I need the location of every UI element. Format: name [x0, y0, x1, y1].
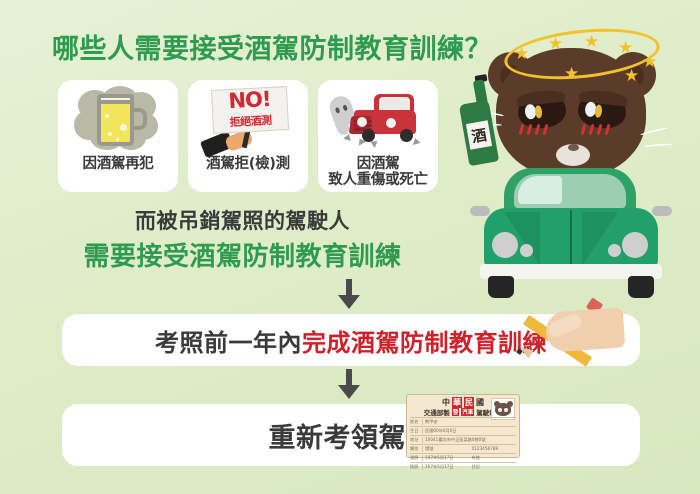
bear-nose [568, 144, 579, 151]
license-detail-rows: 姓名 熊甲安 生日 民國00年0月0日 地址 10041臺北市中正區某路0巷0號… [410, 417, 516, 470]
green-car-illustration [460, 168, 692, 300]
step-prefix-text: 考照前一年內 [155, 329, 302, 357]
reason-card-injury-death: 因酒駕 致人重傷或死亡 [318, 80, 438, 192]
dizzy-star-icon: ★ [618, 40, 633, 57]
license-subtitle-part-1: 交通部製 [424, 407, 450, 417]
reason-card-label: 酒駕拒(檢)測 [206, 156, 290, 172]
reason-card-refuse-test: NO! 拒絕酒測 酒駕拒(檢)測 [188, 80, 308, 192]
license-subtitle-part-3: 汽車 [461, 408, 474, 416]
step-bar-training-text: 考照前一年內完成酒駕防制教育訓練 [155, 323, 547, 358]
dizzy-star-icon: ★ [548, 36, 563, 53]
license-row-key: 生日 [410, 428, 423, 434]
reason-card-repeat-offense: 因酒駕再犯 [58, 80, 178, 192]
bottle-label-text: 酒 [466, 120, 492, 149]
license-row: 類別 證號 0123456789 [410, 444, 516, 452]
dizzy-star-icon: ★ [564, 66, 579, 83]
license-row: 姓名 熊甲安 [410, 417, 516, 425]
driver-license-card-icon: 中 華 民 國 交通部製 發 汽車 駕駛執照 姓名 熊甲安 生日 民國00年0月 [406, 394, 520, 458]
license-row: 生日 民國00年0月0日 [410, 426, 516, 434]
arrow-down-icon [338, 369, 360, 399]
license-row-key: 類別 [410, 446, 423, 452]
license-row: 地址 10041臺北市中正區某路0巷0號 [410, 435, 516, 443]
reason-card-label-line1: 因酒駕 [357, 156, 400, 172]
reason-card-label-line1: 酒駕拒(檢)測 [206, 156, 290, 172]
license-row-key: 換照 [410, 464, 423, 470]
license-row-key: 發照 [410, 455, 423, 461]
license-row: 發照 107年5月17日 有效 [410, 453, 516, 461]
reason-card-label-line1: 因酒駕再犯 [83, 156, 154, 172]
license-title-char-2: 華 [452, 397, 462, 408]
reason-card-label: 因酒駕再犯 [83, 156, 154, 172]
license-row-key2: 有效 [472, 455, 517, 461]
beer-mug-icon [64, 84, 172, 156]
license-row-value: 10041臺北市中正區某路0巷0號 [425, 437, 516, 443]
sign-no-text: NO! [212, 88, 287, 113]
drunk-bear-driving-illustration: ★ ★ ★ ★ ★ ★ ★ 酒 [452, 16, 700, 296]
hand-with-pencil-icon [512, 296, 624, 370]
dizzy-star-icon: ★ [642, 54, 657, 71]
license-row-value: 熊甲安 [425, 419, 516, 425]
page-title: 哪些人需要接受酒駕防制教育訓練？ [52, 27, 492, 66]
license-row-key: 地址 [410, 437, 423, 443]
reason-card-label: 因酒駕 致人重傷或死亡 [328, 156, 427, 188]
license-row-value2: 0123456789 [472, 446, 517, 451]
arrow-down-icon [338, 279, 360, 309]
license-row-value: 107年5月17日 [425, 464, 470, 470]
infographic-poster: 哪些人需要接受酒駕防制教育訓練？ 因酒駕再犯 [0, 0, 700, 494]
dizzy-star-icon: ★ [514, 46, 529, 63]
license-row-value: 民國00年0月0日 [425, 428, 516, 434]
reason-card-label-line2: 致人重傷或死亡 [328, 172, 427, 188]
license-title-char-3: 民 [464, 397, 474, 408]
reason-card-list: 因酒駕再犯 NO! 拒絕酒測 酒駕拒(檢)測 [58, 80, 438, 192]
step-bar-relicense: 重新考領駕照 [62, 404, 640, 466]
license-row-value: 107年5月17日 [425, 455, 470, 461]
license-row-key2: 證號 [425, 446, 470, 452]
car-crash-ghost-icon [324, 84, 432, 156]
dizzy-star-icon: ★ [584, 34, 599, 51]
license-row: 換照 107年5月17日 註記 [410, 462, 516, 470]
license-row-key: 姓名 [410, 419, 423, 425]
dizzy-star-icon: ★ [624, 68, 639, 85]
step-highlight-text: 完成酒駕防制教育訓練 [302, 329, 547, 357]
license-subtitle-part-2: 發 [452, 408, 460, 416]
sign-sub-text: 拒絕酒測 [213, 111, 288, 131]
no-breath-test-sign-icon: NO! 拒絕酒測 [194, 84, 302, 156]
license-row-key2: 註記 [472, 464, 517, 470]
